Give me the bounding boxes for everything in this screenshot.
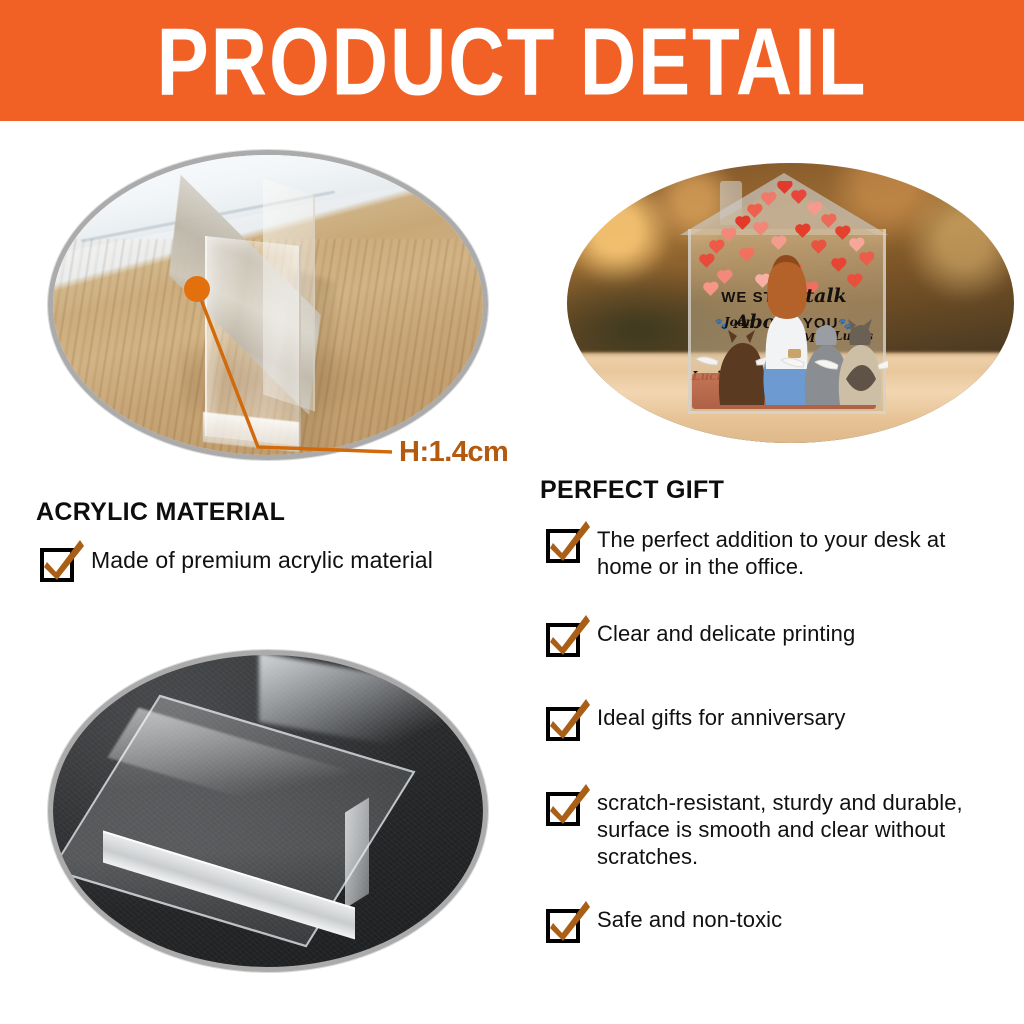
plaque-figures-art	[680, 173, 888, 413]
section-heading-acrylic-material: ACRYLIC MATERIAL	[36, 498, 285, 527]
figure-woman-joan	[763, 255, 808, 405]
checklist-item-label: Clear and delicate printing	[597, 621, 855, 648]
checklist-item-gift-2: Ideal gifts for anniversary	[546, 705, 996, 741]
checkbox-icon	[546, 707, 580, 741]
checklist-item-label: The perfect addition to your desk at hom…	[597, 527, 996, 581]
photo-house-plaque: WE STILLtalk 🐾AboutYOU🐾 Joan Luci Max Lu…	[567, 163, 1014, 443]
product-detail-page: PRODUCT DETAIL H:1.4cm	[0, 0, 1024, 1024]
checkmark-icon	[546, 780, 592, 826]
page-title: PRODUCT DETAIL	[41, 0, 983, 128]
photo-acrylic-slab	[48, 650, 488, 972]
checkmark-icon	[546, 611, 592, 657]
checkbox-icon	[546, 623, 580, 657]
header-banner: PRODUCT DETAIL	[0, 0, 1024, 121]
section-heading-perfect-gift: PERFECT GIFT	[540, 476, 724, 505]
checkmark-icon	[40, 536, 86, 582]
acrylic-plaque: WE STILLtalk 🐾AboutYOU🐾 Joan Luci Max Lu…	[680, 173, 888, 413]
checkbox-icon	[546, 792, 580, 826]
checklist-item-label: scratch-resistant, sturdy and durable, s…	[597, 790, 1006, 870]
checklist-item-label: Ideal gifts for anniversary	[597, 705, 845, 732]
checklist-item-gift-3: scratch-resistant, sturdy and durable, s…	[546, 790, 1006, 870]
checkmark-icon	[546, 517, 592, 563]
checklist-item-gift-1: Clear and delicate printing	[546, 621, 996, 657]
photo-acrylic-edge	[48, 150, 488, 460]
checklist-item-acrylic-0: Made of premium acrylic material	[40, 546, 520, 582]
checkbox-icon	[546, 909, 580, 943]
height-callout-label: H:1.4cm	[399, 436, 508, 469]
checklist-item-label: Safe and non-toxic	[597, 907, 782, 934]
checklist-item-gift-4: Safe and non-toxic	[546, 907, 996, 943]
checkbox-icon	[546, 529, 580, 563]
checklist-item-label: Made of premium acrylic material	[91, 546, 433, 574]
checkmark-icon	[546, 695, 592, 741]
checkmark-icon	[546, 897, 592, 943]
checklist-item-gift-0: The perfect addition to your desk at hom…	[546, 527, 996, 581]
checkbox-icon	[40, 548, 74, 582]
